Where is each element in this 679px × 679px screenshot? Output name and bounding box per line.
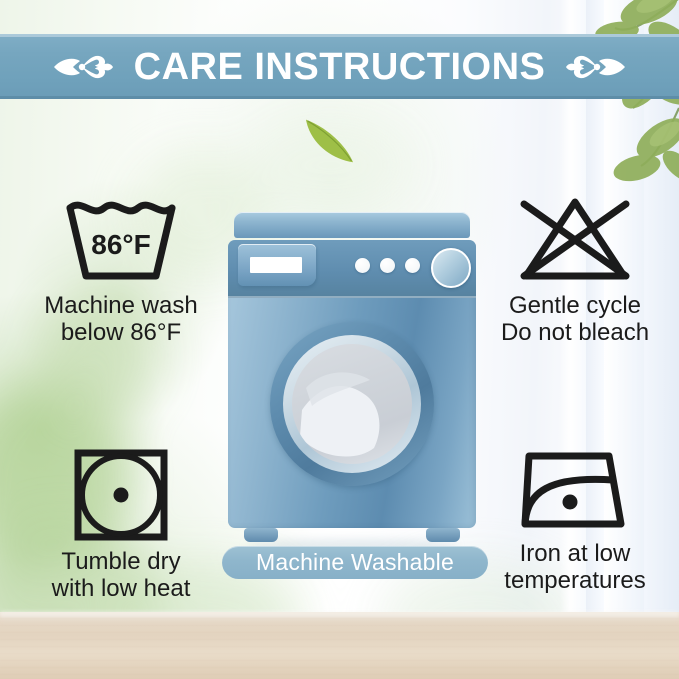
care-icon-iron-low: Iron at low temperatures xyxy=(472,446,678,594)
page-title: CARE INSTRUCTIONS xyxy=(134,48,546,86)
machine-top-lid xyxy=(234,212,470,238)
plant-branch-decoration xyxy=(537,0,679,198)
tumble-dry-square-icon xyxy=(71,448,171,542)
iron-icon xyxy=(513,446,637,534)
machine-foot xyxy=(426,528,460,542)
wash-temperature-label: 86°F xyxy=(91,229,150,260)
door-glass-reflection xyxy=(292,344,412,464)
machine-panel-divider xyxy=(228,296,476,298)
care-icon-caption: Iron at low temperatures xyxy=(504,540,645,594)
wash-tub-icon: 86°F xyxy=(62,196,180,286)
machine-door-glass xyxy=(292,344,412,464)
machine-foot xyxy=(244,528,278,542)
care-icon-do-not-bleach: Gentle cycle Do not bleach xyxy=(472,194,678,346)
table-wood-grain xyxy=(0,618,679,679)
header-banner: CARE INSTRUCTIONS xyxy=(0,34,679,99)
care-icon-tumble-dry-low: Tumble dry with low heat xyxy=(18,448,224,602)
care-instructions-infographic: CARE INSTRUCTIONS 86°F Machine wash belo… xyxy=(0,0,679,679)
washing-machine-illustration xyxy=(228,212,476,542)
care-icon-caption: Gentle cycle Do not bleach xyxy=(501,292,649,346)
care-icon-caption: Tumble dry with low heat xyxy=(52,548,191,602)
dry-heat-dot xyxy=(114,488,129,503)
fleur-de-lis-icon xyxy=(565,47,627,87)
fleur-de-lis-icon xyxy=(52,47,114,87)
machine-program-dial xyxy=(431,248,471,288)
banner-shadow xyxy=(0,96,679,99)
triangle-crossed-icon xyxy=(514,194,636,286)
machine-button xyxy=(405,258,420,273)
machine-washable-badge: Machine Washable xyxy=(222,546,488,579)
machine-button xyxy=(380,258,395,273)
iron-heat-dot xyxy=(563,495,578,510)
machine-button xyxy=(355,258,370,273)
detergent-drawer xyxy=(238,244,316,286)
care-icon-machine-wash: 86°F Machine wash below 86°F xyxy=(18,196,224,346)
detergent-drawer-slot xyxy=(250,257,302,273)
machine-washable-badge-label: Machine Washable xyxy=(256,551,454,574)
care-icon-caption: Machine wash below 86°F xyxy=(44,292,197,346)
banner-highlight xyxy=(0,34,679,37)
